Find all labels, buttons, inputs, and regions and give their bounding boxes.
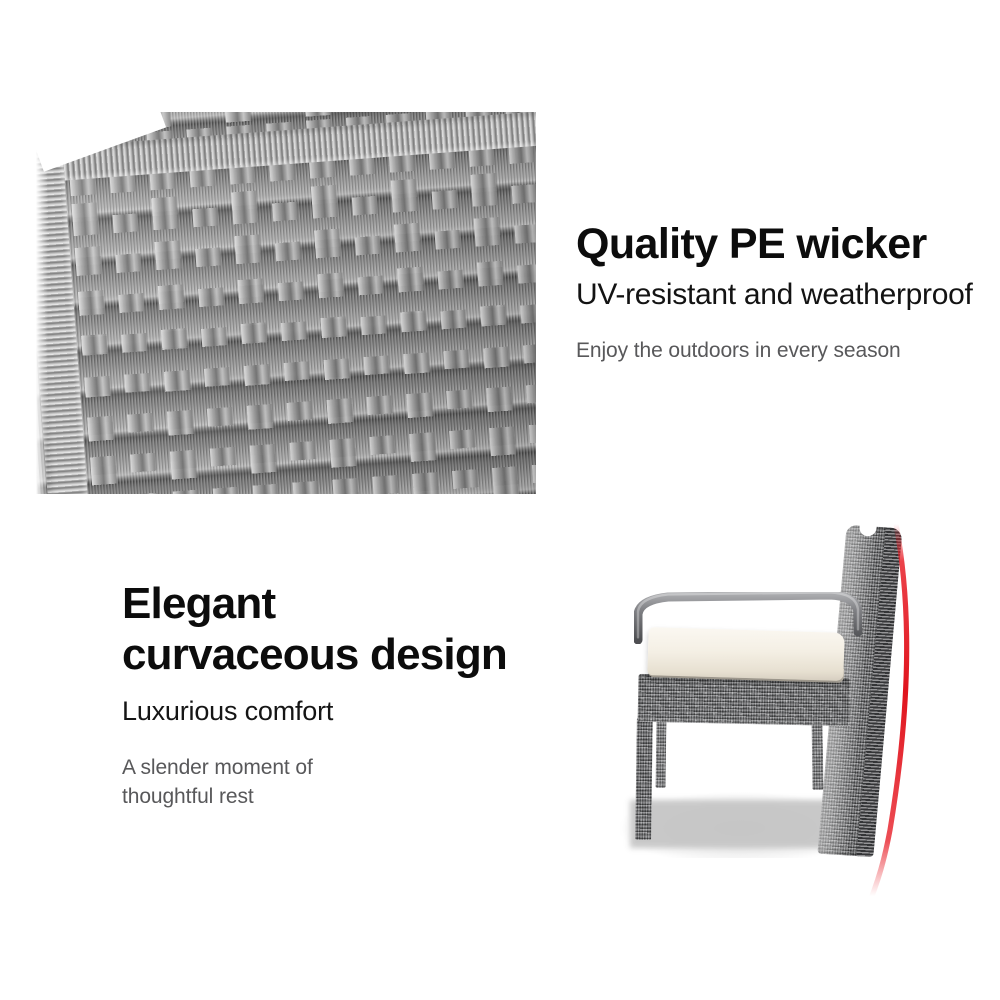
wicker-left-edge-fade bbox=[26, 112, 48, 494]
product-feature-page: Quality PE wicker UV-resistant and weath… bbox=[0, 0, 1000, 1000]
chair-leg-back-inner bbox=[811, 718, 823, 790]
chair-leg-front bbox=[635, 718, 653, 840]
bottom-left-caption-line-1: A slender moment of bbox=[122, 756, 313, 779]
bottom-left-heading: Elegant curvaceous design bbox=[122, 578, 542, 681]
chair-stage bbox=[600, 500, 1000, 920]
chair-leg-front-inner bbox=[656, 718, 667, 788]
bottom-left-subheading: Luxurious comfort bbox=[122, 697, 542, 727]
wicker-weave-closeup-image bbox=[26, 112, 536, 494]
chair-armrest bbox=[634, 592, 862, 640]
chair-ground-shadow bbox=[630, 800, 845, 848]
bottom-left-caption: A slender moment of thoughtful rest bbox=[122, 753, 542, 813]
top-right-heading: Quality PE wicker bbox=[576, 222, 988, 267]
quality-pe-wicker-text-block: Quality PE wicker UV-resistant and weath… bbox=[576, 222, 988, 364]
bottom-left-caption-line-2: thoughtful rest bbox=[122, 785, 254, 808]
bottom-left-heading-line-1: Elegant bbox=[122, 579, 275, 628]
bottom-left-heading-line-2: curvaceous design bbox=[122, 630, 507, 679]
chair-side-profile-image bbox=[600, 500, 1000, 920]
top-right-caption: Enjoy the outdoors in every season bbox=[576, 337, 988, 364]
elegant-design-text-block: Elegant curvaceous design Luxurious comf… bbox=[122, 578, 542, 812]
top-right-subheading: UV-resistant and weatherproof bbox=[576, 279, 988, 311]
